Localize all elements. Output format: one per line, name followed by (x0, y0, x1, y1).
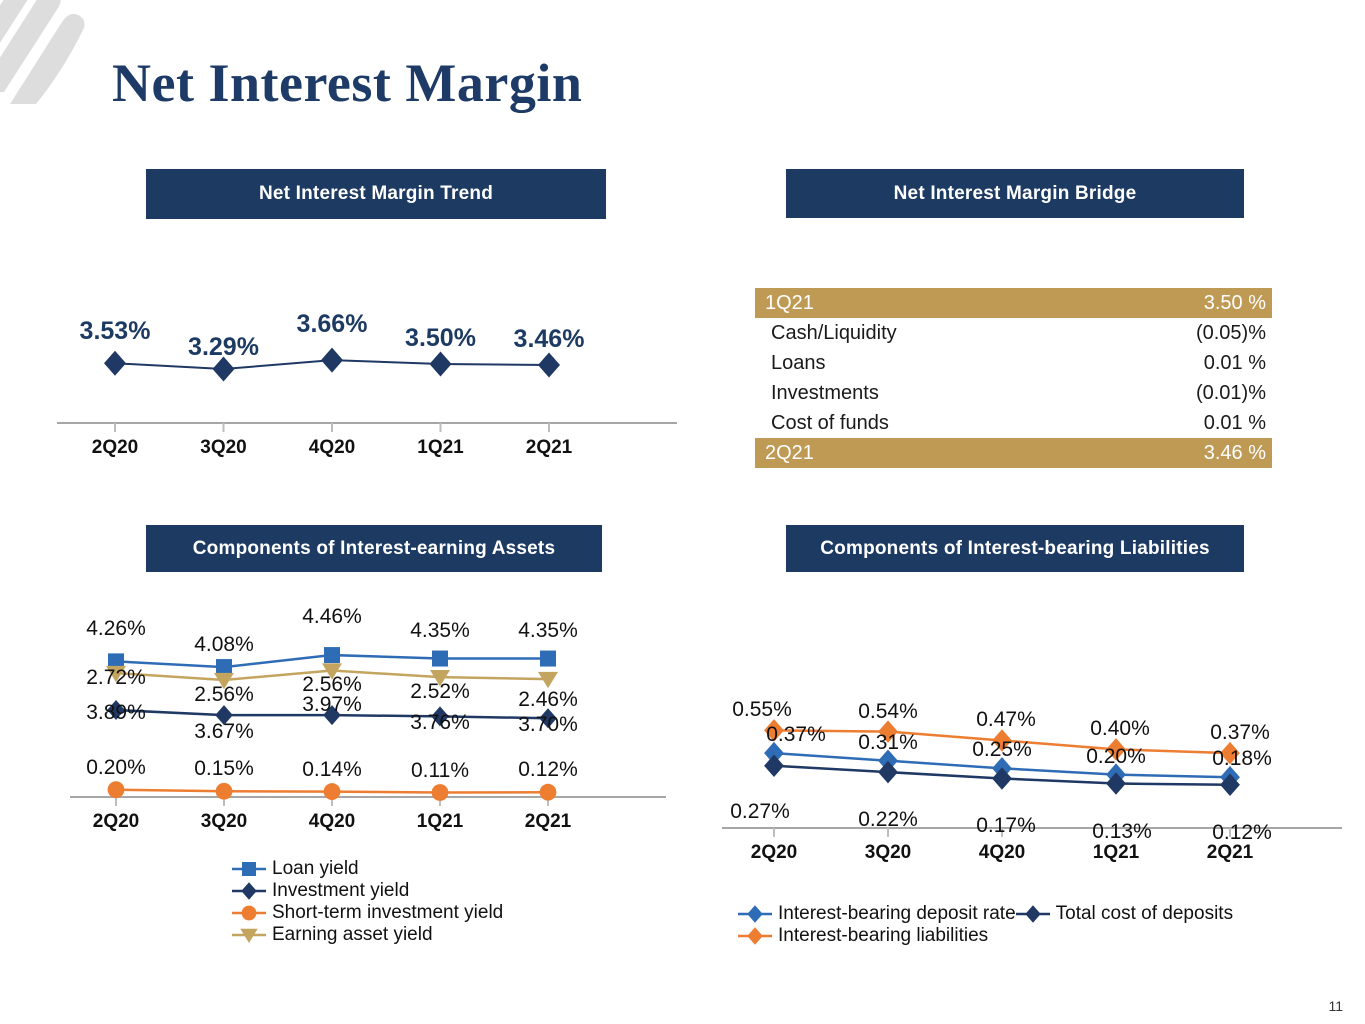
x-axis-label: 4Q20 (309, 811, 355, 833)
bridge-row-value: (0.05)% (1196, 322, 1266, 345)
legend-item-label: Short-term investment yield (272, 902, 503, 924)
chart-interest-bearing-liabilities: 0.37%0.31%0.25%0.20%0.18%0.27%0.22%0.17%… (722, 678, 1342, 878)
page-number: 11 (1328, 998, 1343, 1014)
panel-header-interest-bearing-liabilities: Components of Interest-bearing Liabiliti… (786, 525, 1244, 572)
bridge-row-label: Cost of funds (771, 412, 889, 435)
legend-marker-icon (232, 881, 266, 901)
bridge-row-label: 2Q21 (765, 442, 814, 465)
bridge-row-label: Investments (771, 382, 879, 405)
bridge-row-value: 3.46 % (1204, 442, 1266, 465)
nim-bridge-table: 1Q213.50 %Cash/Liquidity(0.05)%Loans0.01… (755, 288, 1272, 468)
panel-header-nim-bridge: Net Interest Margin Bridge (786, 169, 1244, 218)
data-label: 4.35% (518, 619, 578, 643)
legend-marker-icon (232, 903, 266, 923)
x-axis-label: 3Q20 (200, 437, 246, 459)
data-label: 3.70% (518, 713, 578, 737)
chart-nim-trend: 3.53%3.29%3.66%3.50%3.46%2Q203Q204Q201Q2… (57, 310, 677, 470)
data-label: 0.37% (766, 723, 826, 747)
bridge-row-value: 0.01 % (1204, 352, 1266, 375)
x-axis-label: 2Q20 (92, 437, 138, 459)
data-label: 3.29% (188, 333, 259, 362)
company-stripes-logo (0, 0, 95, 105)
data-label: 0.54% (858, 700, 918, 724)
data-label: 0.18% (1212, 747, 1272, 771)
x-axis-label: 1Q21 (417, 437, 463, 459)
data-label: 4.46% (302, 605, 362, 629)
page-title: Net Interest Margin (112, 52, 582, 114)
data-label: 3.67% (194, 720, 254, 744)
data-label: 3.89% (86, 701, 146, 725)
x-axis-label: 2Q21 (1207, 842, 1253, 864)
data-label: 4.08% (194, 633, 254, 657)
data-label: 0.37% (1210, 721, 1270, 745)
data-label: 0.20% (86, 756, 146, 780)
data-label: 3.76% (410, 711, 470, 735)
data-label: 3.46% (514, 325, 585, 354)
x-axis-label: 2Q20 (751, 842, 797, 864)
legend-item-label: Interest-bearing liabilities (778, 925, 988, 947)
data-label: 3.66% (297, 310, 368, 339)
x-axis-label: 2Q20 (93, 811, 139, 833)
bridge-row-label: Cash/Liquidity (771, 322, 897, 345)
data-label: 0.22% (858, 808, 918, 832)
bridge-row-value: 3.50 % (1204, 292, 1266, 315)
data-label: 0.47% (976, 708, 1036, 732)
legend-item-label: Loan yield (272, 858, 359, 880)
data-label: 0.31% (858, 731, 918, 755)
data-label: 0.17% (976, 814, 1036, 838)
legend-marker-icon (738, 926, 772, 946)
data-label: 0.25% (972, 738, 1032, 762)
legend-marker-icon (1016, 904, 1050, 924)
bridge-row: Loans0.01 % (755, 348, 1272, 378)
data-label: 3.53% (80, 317, 151, 346)
legend-item[interactable]: Interest-bearing deposit rate (738, 903, 1016, 925)
bridge-row: Cash/Liquidity(0.05)% (755, 318, 1272, 348)
bridge-row-label: 1Q21 (765, 292, 814, 315)
legend-interest-earning-assets: Loan yieldInvestment yieldShort-term inv… (232, 858, 503, 946)
data-label: 3.50% (405, 324, 476, 353)
data-label: 2.46% (518, 688, 578, 712)
x-axis-label: 2Q21 (526, 437, 572, 459)
legend-item-label: Earning asset yield (272, 924, 433, 946)
panel-header-nim-trend: Net Interest Margin Trend (146, 169, 606, 219)
bridge-row-value: (0.01)% (1196, 382, 1266, 405)
legend-item-label: Interest-bearing deposit rate (778, 903, 1016, 925)
data-label: 0.20% (1086, 745, 1146, 769)
legend-item[interactable]: Investment yield (232, 880, 503, 902)
legend-marker-icon (232, 859, 266, 879)
bridge-row: 1Q213.50 % (755, 288, 1272, 318)
legend-item[interactable]: Total cost of deposits (1016, 903, 1233, 925)
legend-row: Interest-bearing deposit rateTotal cost … (738, 903, 1298, 925)
legend-marker-icon (232, 925, 266, 945)
data-label: 0.14% (302, 758, 362, 782)
bridge-row: 2Q213.46 % (755, 438, 1272, 468)
data-label: 4.26% (86, 617, 146, 641)
legend-marker-icon (738, 904, 772, 924)
legend-item-label: Investment yield (272, 880, 409, 902)
legend-item[interactable]: Loan yield (232, 858, 503, 880)
x-axis-label: 3Q20 (865, 842, 911, 864)
panel-header-interest-earning-assets: Components of Interest-earning Assets (146, 525, 602, 572)
bridge-row-value: 0.01 % (1204, 412, 1266, 435)
x-axis-label: 2Q21 (525, 811, 571, 833)
legend-item[interactable]: Short-term investment yield (232, 902, 503, 924)
data-label: 0.12% (518, 758, 578, 782)
bridge-row: Cost of funds0.01 % (755, 408, 1272, 438)
data-label: 0.13% (1092, 820, 1152, 844)
x-axis-label: 1Q21 (417, 811, 463, 833)
data-label: 0.11% (411, 759, 469, 783)
legend-item[interactable]: Interest-bearing liabilities (738, 925, 1298, 947)
data-label: 4.35% (410, 619, 470, 643)
data-label: 2.52% (410, 680, 470, 704)
bridge-row: Investments(0.01)% (755, 378, 1272, 408)
x-axis-label: 3Q20 (201, 811, 247, 833)
x-axis-label: 1Q21 (1093, 842, 1139, 864)
data-label: 3.97% (302, 693, 362, 717)
x-axis-label: 4Q20 (309, 437, 355, 459)
data-label: 2.56% (194, 683, 254, 707)
data-label: 0.55% (732, 698, 792, 722)
chart-interest-earning-assets: 4.26%4.08%4.46%4.35%4.35%2.72%2.56%2.56%… (70, 598, 670, 838)
bridge-row-label: Loans (771, 352, 826, 375)
legend-item-label: Total cost of deposits (1056, 903, 1233, 925)
data-label: 0.40% (1090, 717, 1150, 741)
data-label: 0.15% (194, 757, 254, 781)
x-axis-label: 4Q20 (979, 842, 1025, 864)
data-label: 2.72% (86, 666, 146, 690)
data-label: 0.27% (730, 800, 790, 824)
legend-interest-bearing-liabilities: Interest-bearing deposit rateTotal cost … (738, 903, 1298, 947)
legend-item[interactable]: Earning asset yield (232, 924, 503, 946)
